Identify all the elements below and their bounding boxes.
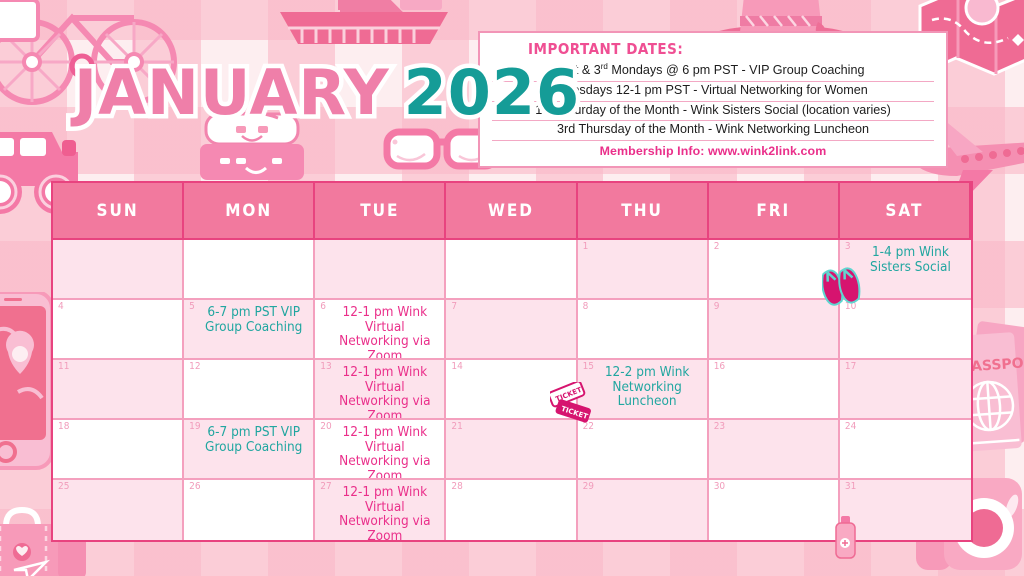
day-number: 11	[58, 362, 69, 372]
calendar-day-7[interactable]: 7	[446, 300, 577, 360]
calendar-day-19[interactable]: 196-7 pm PST VIP Group Coaching	[184, 420, 315, 480]
calendar-day-28[interactable]: 28	[446, 480, 577, 540]
day-header-sun: SUN	[53, 183, 184, 240]
day-number: 2	[714, 242, 720, 252]
day-number: 6	[320, 302, 326, 312]
day-number: 20	[320, 422, 331, 432]
calendar-day-25[interactable]: 25	[53, 480, 184, 540]
calendar-event[interactable]: 6-7 pm PST VIP Group Coaching	[188, 305, 309, 334]
calendar-day-3[interactable]: 31-4 pm Wink Sisters Social	[840, 240, 971, 300]
day-number: 14	[451, 362, 462, 372]
day-number: 15	[583, 362, 594, 372]
calendar-day-21[interactable]: 21	[446, 420, 577, 480]
day-number: 8	[583, 302, 589, 312]
calendar-day-empty[interactable]	[53, 240, 184, 300]
day-header-wed: WED	[446, 183, 577, 240]
day-number: 16	[714, 362, 725, 372]
calendar-day-10[interactable]: 10	[840, 300, 971, 360]
calendar-day-5[interactable]: 56-7 pm PST VIP Group Coaching	[184, 300, 315, 360]
calendar-grid: SUNMONTUEWEDTHUFRISAT1231-4 pm Wink Sist…	[51, 181, 973, 542]
day-header-fri: FRI	[709, 183, 840, 240]
day-number: 21	[451, 422, 462, 432]
calendar-title: JANUARY 2026	[74, 56, 580, 129]
day-number: 3	[845, 242, 851, 252]
calendar-day-4[interactable]: 4	[53, 300, 184, 360]
day-number: 5	[189, 302, 195, 312]
calendar-event[interactable]: 12-1 pm Wink Virtual Networking via Zoom	[319, 485, 440, 540]
calendar-day-30[interactable]: 30	[709, 480, 840, 540]
day-number: 17	[845, 362, 856, 372]
calendar-day-empty[interactable]	[446, 240, 577, 300]
day-number: 25	[58, 482, 69, 492]
day-number: 19	[189, 422, 200, 432]
calendar-day-31[interactable]: 31	[840, 480, 971, 540]
calendar-day-empty[interactable]	[184, 240, 315, 300]
day-number: 18	[58, 422, 69, 432]
title-year: 2026	[404, 56, 581, 129]
calendar-day-9[interactable]: 9	[709, 300, 840, 360]
calendar-day-14[interactable]: 14	[446, 360, 577, 420]
calendar-day-26[interactable]: 26	[184, 480, 315, 540]
calendar-day-24[interactable]: 24	[840, 420, 971, 480]
day-number: 9	[714, 302, 720, 312]
day-number: 13	[320, 362, 331, 372]
calendar-event[interactable]: 12-1 pm Wink Virtual Networking via Zoom	[319, 305, 440, 360]
day-number: 29	[583, 482, 594, 492]
calendar-day-18[interactable]: 18	[53, 420, 184, 480]
calendar-event[interactable]: 12-2 pm Wink Networking Luncheon	[582, 365, 703, 409]
calendar-day-20[interactable]: 2012-1 pm Wink Virtual Networking via Zo…	[315, 420, 446, 480]
calendar-day-27[interactable]: 2712-1 pm Wink Virtual Networking via Zo…	[315, 480, 446, 540]
title-month: JANUARY	[74, 56, 390, 129]
day-header-tue: TUE	[315, 183, 446, 240]
calendar-day-23[interactable]: 23	[709, 420, 840, 480]
calendar-day-13[interactable]: 1312-1 pm Wink Virtual Networking via Zo…	[315, 360, 446, 420]
membership-info-link[interactable]: Membership Info: www.wink2link.com	[492, 141, 934, 158]
day-number: 10	[845, 302, 856, 312]
calendar-day-29[interactable]: 29	[578, 480, 709, 540]
day-number: 1	[583, 242, 589, 252]
calendar-day-1[interactable]: 1	[578, 240, 709, 300]
calendar-event[interactable]: 1-4 pm Wink Sisters Social	[844, 245, 967, 274]
day-number: 31	[845, 482, 856, 492]
calendar-day-2[interactable]: 2	[709, 240, 840, 300]
day-number: 30	[714, 482, 725, 492]
calendar-day-15[interactable]: 1512-2 pm Wink Networking Luncheon	[578, 360, 709, 420]
day-number: 12	[189, 362, 200, 372]
day-header-mon: MON	[184, 183, 315, 240]
day-header-thu: THU	[578, 183, 709, 240]
day-number: 26	[189, 482, 200, 492]
day-number: 7	[451, 302, 457, 312]
calendar-day-12[interactable]: 12	[184, 360, 315, 420]
day-number: 4	[58, 302, 64, 312]
calendar-event[interactable]: 6-7 pm PST VIP Group Coaching	[188, 425, 309, 454]
calendar-day-6[interactable]: 612-1 pm Wink Virtual Networking via Zoo…	[315, 300, 446, 360]
day-number: 23	[714, 422, 725, 432]
calendar-day-empty[interactable]	[315, 240, 446, 300]
day-number: 24	[845, 422, 856, 432]
day-number: 22	[583, 422, 594, 432]
calendar-event[interactable]: 12-1 pm Wink Virtual Networking via Zoom	[319, 425, 440, 480]
calendar-day-8[interactable]: 8	[578, 300, 709, 360]
calendar-day-22[interactable]: 22	[578, 420, 709, 480]
calendar-day-17[interactable]: 17	[840, 360, 971, 420]
calendar-day-16[interactable]: 16	[709, 360, 840, 420]
important-dates-heading: IMPORTANT DATES:	[528, 40, 934, 58]
day-number: 28	[451, 482, 462, 492]
day-header-sat: SAT	[840, 183, 971, 240]
day-number: 27	[320, 482, 331, 492]
calendar-event[interactable]: 12-1 pm Wink Virtual Networking via Zoom	[319, 365, 440, 420]
calendar-day-11[interactable]: 11	[53, 360, 184, 420]
